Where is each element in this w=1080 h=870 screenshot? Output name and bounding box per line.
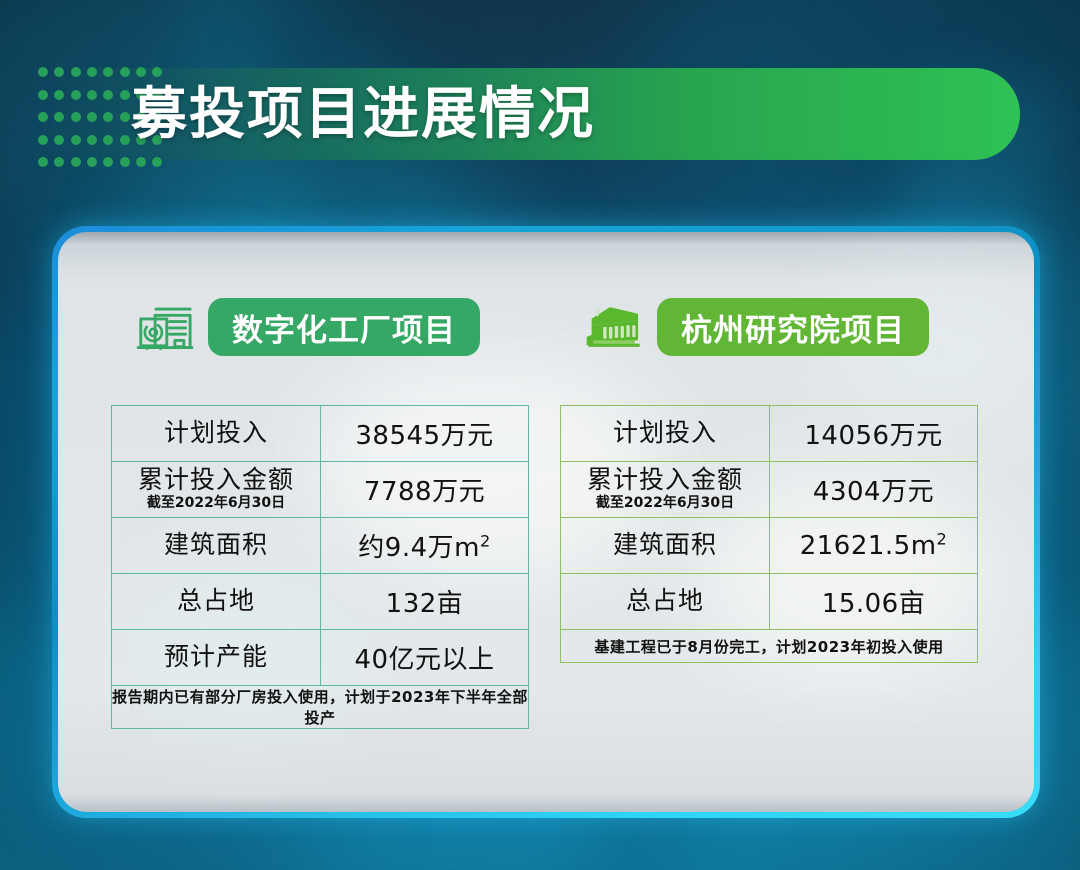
- dot: [120, 135, 130, 145]
- research-building-icon: [585, 301, 643, 353]
- row-value: 14056万元: [770, 406, 978, 462]
- dot: [120, 67, 130, 77]
- project-header-digital-factory: 数字化工厂项目: [136, 298, 480, 356]
- project-table-digital-factory: 计划投入38545万元累计投入金额截至2022年6月30日7788万元建筑面积约…: [111, 405, 529, 729]
- page-title: 募投项目进展情况: [131, 75, 595, 155]
- dot: [87, 157, 97, 167]
- dot: [103, 67, 113, 77]
- row-label: 总占地: [112, 574, 321, 630]
- dot: [38, 90, 48, 100]
- project-column-digital-factory: 数字化工厂项目 计划投入38545万元累计投入金额截至2022年6月30日778…: [58, 232, 546, 812]
- table-body: 计划投入14056万元累计投入金额截至2022年6月30日4304万元建筑面积2…: [561, 406, 978, 663]
- dot: [120, 157, 130, 167]
- project-name-badge-digital-factory: 数字化工厂项目: [208, 298, 480, 356]
- project-name-badge-hangzhou-institute: 杭州研究院项目: [657, 298, 929, 356]
- dot: [87, 112, 97, 122]
- row-label: 计划投入: [112, 406, 321, 462]
- main-card: 数字化工厂项目 计划投入38545万元累计投入金额截至2022年6月30日778…: [52, 226, 1040, 818]
- project-note: 报告期内已有部分厂房投入使用，计划于2023年下半年全部投产: [112, 686, 529, 729]
- dot: [136, 157, 146, 167]
- row-label: 累计投入金额截至2022年6月30日: [561, 462, 770, 518]
- row-value: 约9.4万m2: [321, 518, 529, 574]
- table-note-row: 报告期内已有部分厂房投入使用，计划于2023年下半年全部投产: [112, 686, 529, 729]
- table-body: 计划投入38545万元累计投入金额截至2022年6月30日7788万元建筑面积约…: [112, 406, 529, 729]
- dot: [103, 90, 113, 100]
- dot: [152, 157, 162, 167]
- project-table-hangzhou-institute: 计划投入14056万元累计投入金额截至2022年6月30日4304万元建筑面积2…: [560, 405, 978, 663]
- table-row: 累计投入金额截至2022年6月30日7788万元: [112, 462, 529, 518]
- main-card-panel: 数字化工厂项目 计划投入38545万元累计投入金额截至2022年6月30日778…: [58, 232, 1034, 812]
- row-label: 累计投入金额截至2022年6月30日: [112, 462, 321, 518]
- dot: [71, 157, 81, 167]
- table-row: 累计投入金额截至2022年6月30日4304万元: [561, 462, 978, 518]
- row-label: 建筑面积: [561, 518, 770, 574]
- dot: [87, 135, 97, 145]
- dot: [71, 67, 81, 77]
- row-value: 15.06亩: [770, 574, 978, 630]
- dot: [71, 112, 81, 122]
- factory-icon: [136, 301, 194, 353]
- row-value: 7788万元: [321, 462, 529, 518]
- table-row: 总占地132亩: [112, 574, 529, 630]
- dot: [87, 90, 97, 100]
- dot: [54, 112, 64, 122]
- dot: [54, 157, 64, 167]
- project-header-hangzhou-institute: 杭州研究院项目: [585, 298, 929, 356]
- project-columns: 数字化工厂项目 计划投入38545万元累计投入金额截至2022年6月30日778…: [58, 232, 1034, 812]
- dot: [38, 135, 48, 145]
- row-value: 21621.5m2: [770, 518, 978, 574]
- table-row: 建筑面积21621.5m2: [561, 518, 978, 574]
- table-row: 计划投入38545万元: [112, 406, 529, 462]
- dot: [120, 112, 130, 122]
- dot: [103, 112, 113, 122]
- table-row: 预计产能40亿元以上: [112, 630, 529, 686]
- dot: [103, 157, 113, 167]
- row-value: 40亿元以上: [321, 630, 529, 686]
- table-row: 计划投入14056万元: [561, 406, 978, 462]
- table-note-row: 基建工程已于8月份完工，计划2023年初投入使用: [561, 630, 978, 663]
- table-row: 总占地15.06亩: [561, 574, 978, 630]
- dot: [103, 135, 113, 145]
- dot: [54, 135, 64, 145]
- dot: [38, 67, 48, 77]
- row-label: 预计产能: [112, 630, 321, 686]
- row-label: 建筑面积: [112, 518, 321, 574]
- dot: [54, 90, 64, 100]
- page-header: 募投项目进展情况: [0, 55, 1080, 175]
- dot: [71, 135, 81, 145]
- row-value: 132亩: [321, 574, 529, 630]
- row-value: 4304万元: [770, 462, 978, 518]
- row-label: 总占地: [561, 574, 770, 630]
- dot: [38, 157, 48, 167]
- row-label: 计划投入: [561, 406, 770, 462]
- dot: [87, 67, 97, 77]
- table-row: 建筑面积约9.4万m2: [112, 518, 529, 574]
- dot: [54, 67, 64, 77]
- row-value: 38545万元: [321, 406, 529, 462]
- dot: [120, 90, 130, 100]
- project-note: 基建工程已于8月份完工，计划2023年初投入使用: [561, 630, 978, 663]
- project-column-hangzhou-institute: 杭州研究院项目 计划投入14056万元累计投入金额截至2022年6月30日430…: [546, 232, 1034, 812]
- dot: [38, 112, 48, 122]
- dot: [71, 90, 81, 100]
